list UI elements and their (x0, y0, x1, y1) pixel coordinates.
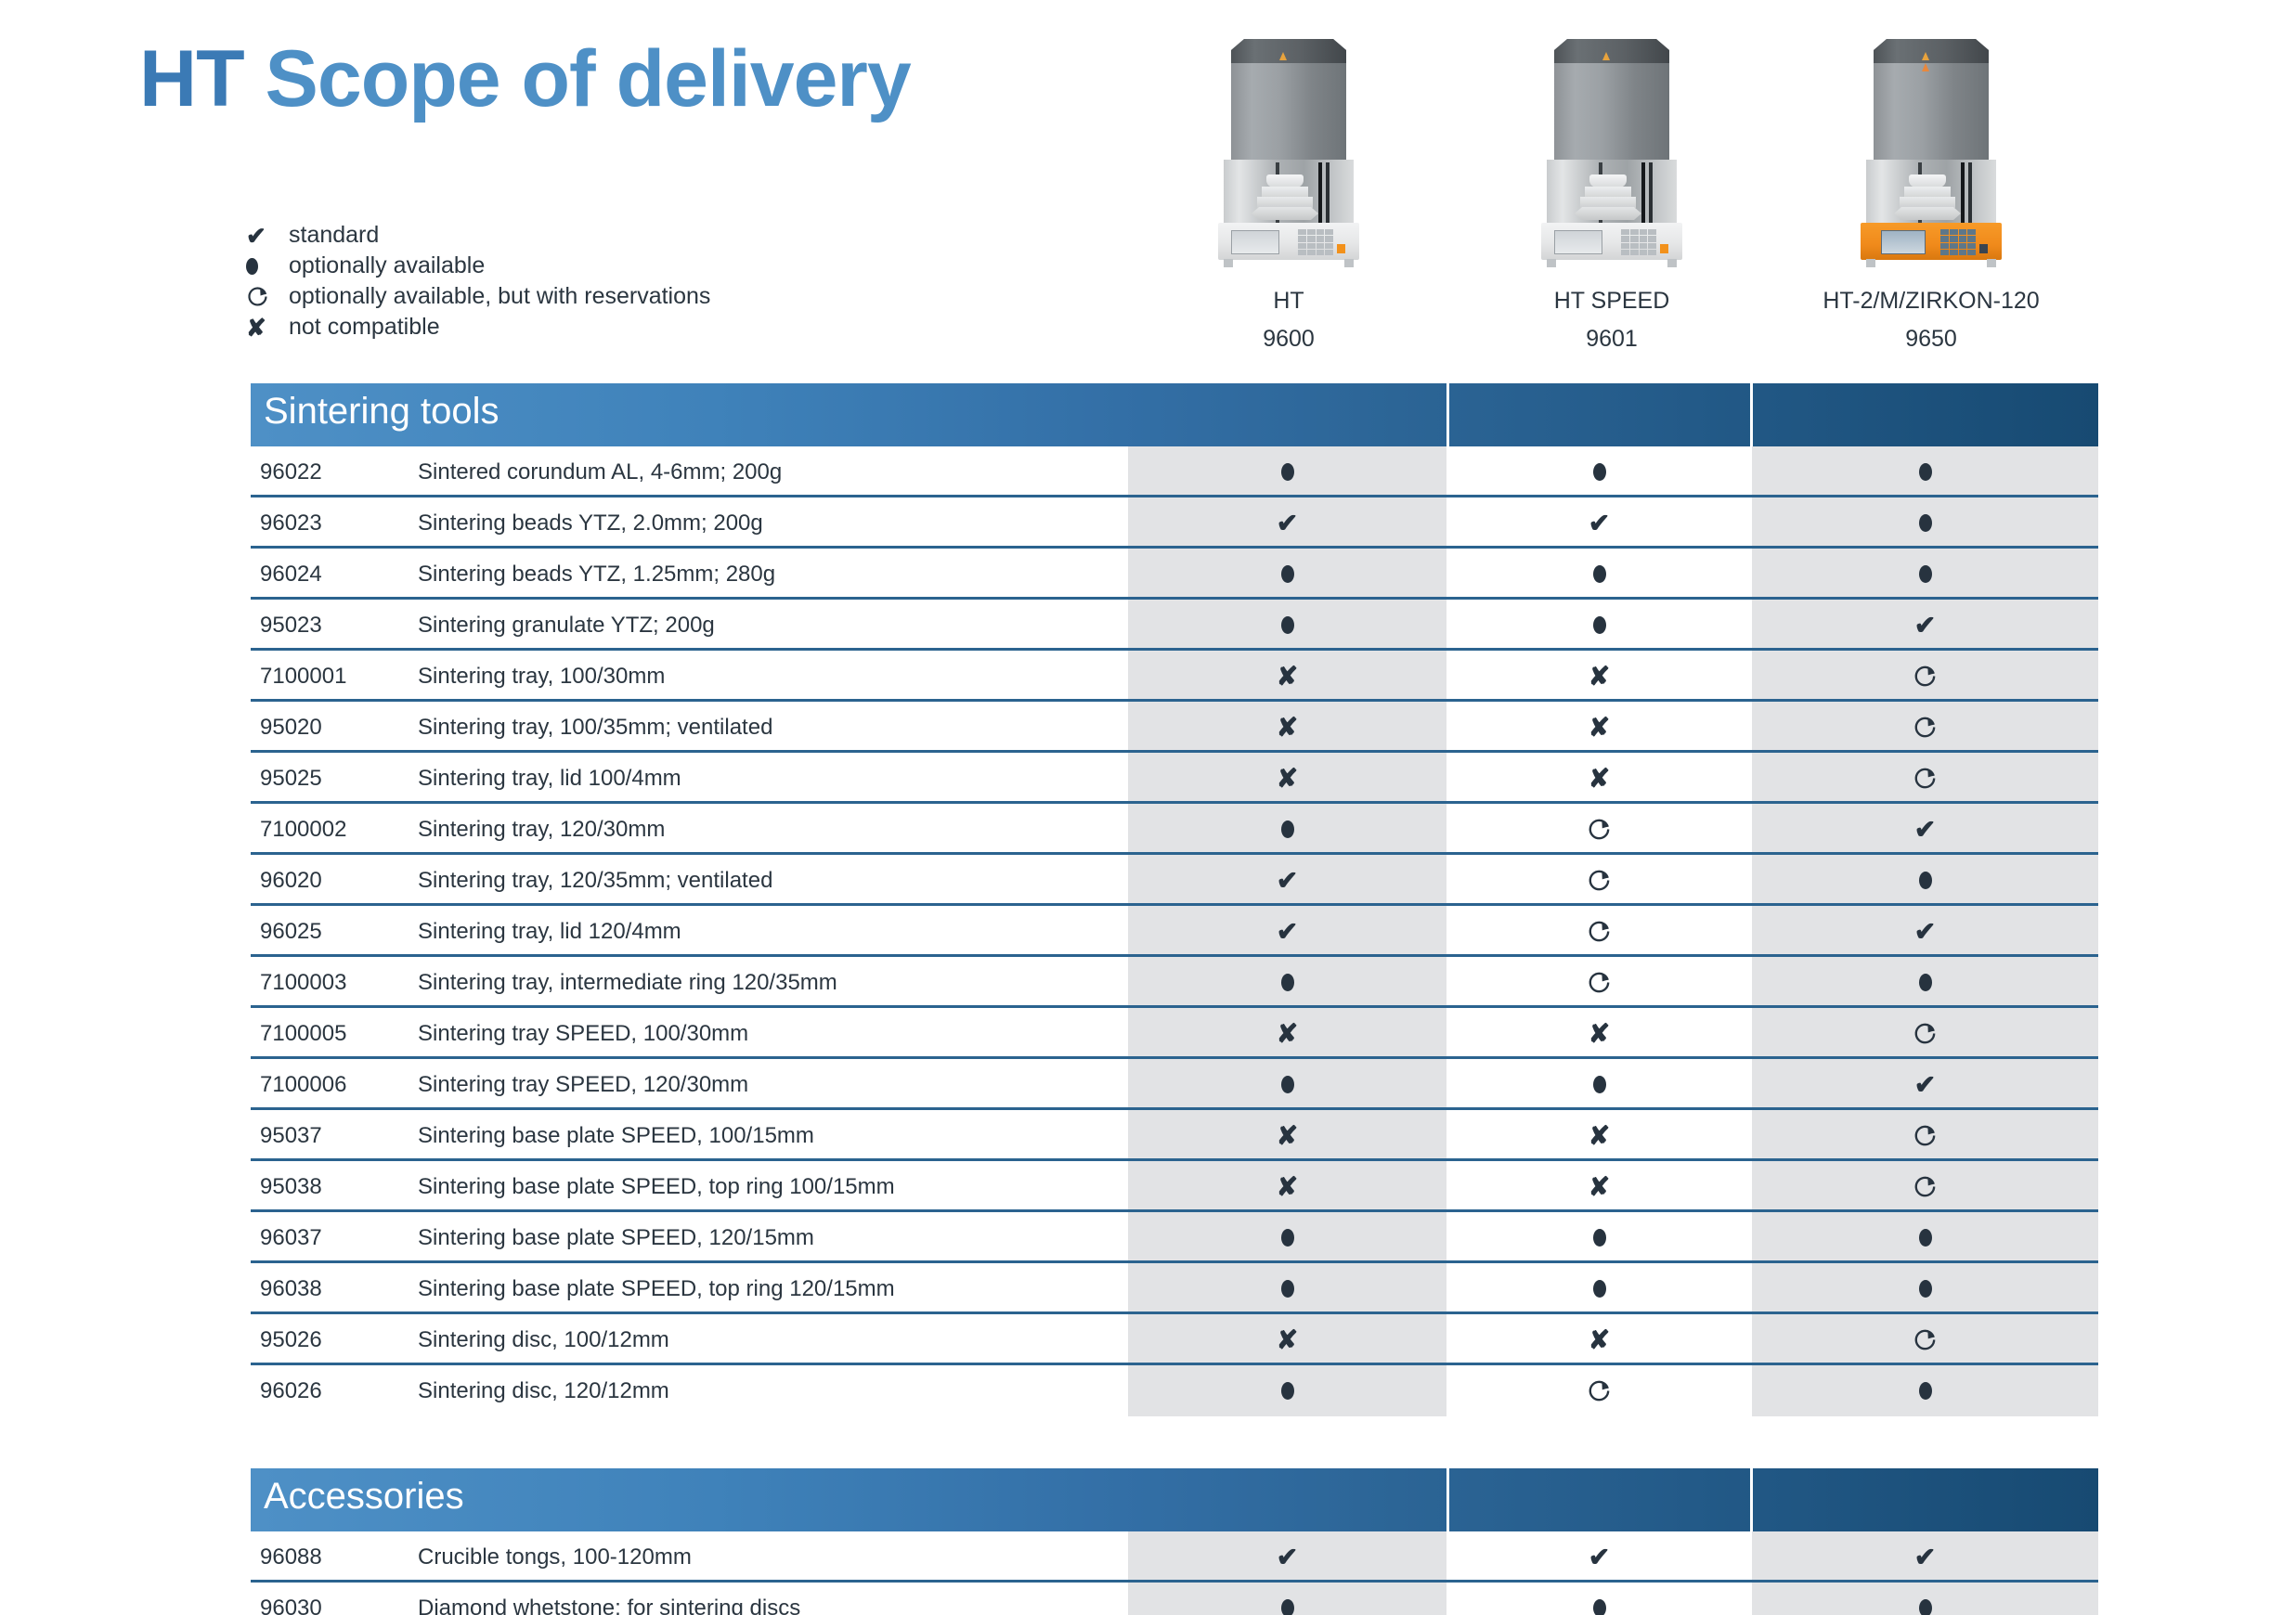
table-row: 7100001Sintering tray, 100/30mm✘✘ (251, 651, 2098, 702)
furnace-chamber-cap (1554, 39, 1669, 63)
control-display (1881, 230, 1926, 254)
circular-arrow-icon (1913, 1327, 1938, 1352)
availability-cell: ✘ (1128, 651, 1446, 702)
circular-arrow-glyph (1587, 868, 1612, 893)
product-code: 9600 (1135, 326, 1442, 353)
delivery-table: Sintering tools96022Sintered corundum AL… (251, 383, 2098, 1615)
filled-circle-icon (1593, 459, 1606, 485)
table-row: 96026Sintering disc, 120/12mm (251, 1365, 2098, 1416)
filled-circle-shape (246, 258, 258, 275)
filled-circle-shape (1593, 463, 1606, 481)
availability-cell (1448, 957, 1750, 1008)
row-description: Sintering granulate YTZ; 200g (418, 600, 715, 651)
filled-circle-icon (1919, 459, 1932, 485)
filled-circle-shape (1919, 463, 1932, 481)
filled-circle-icon (1281, 817, 1294, 843)
filled-circle-icon (1919, 510, 1932, 536)
crucible-tier (1257, 197, 1313, 208)
filled-circle-shape (1919, 872, 1932, 889)
row-description: Sintering tray SPEED, 100/30mm (418, 1008, 748, 1059)
availability-cell: ✔ (1128, 1531, 1446, 1583)
page-title: HT Scope of delivery (139, 39, 911, 119)
crucible-stack (1252, 174, 1318, 225)
product-code: 9650 (1778, 326, 2084, 353)
row-article-number: 96023 (260, 497, 322, 549)
furnace-rod (1326, 162, 1330, 224)
filled-circle-shape (1919, 974, 1932, 991)
filled-circle-shape (1593, 565, 1606, 583)
check-icon: ✔ (1277, 510, 1298, 536)
delivery-scope-page: HT Scope of delivery ✔standardoptionally… (0, 0, 2296, 1615)
furnace-chamber-cap (1874, 39, 1989, 63)
row-description: Sintering base plate SPEED, top ring 120… (418, 1263, 895, 1314)
control-display (1554, 230, 1602, 254)
furnace-ht-photo (1218, 19, 1359, 269)
furnace-foot (1987, 259, 1996, 267)
circular-arrow-glyph (1587, 1378, 1612, 1403)
circular-arrow-glyph (1587, 970, 1612, 995)
circular-arrow-icon (1913, 1174, 1938, 1199)
availability-cell (1448, 1212, 1750, 1263)
table-row: 96022Sintered corundum AL, 4-6mm; 200g (251, 446, 2098, 497)
table-row: 95020Sintering tray, 100/35mm; ventilate… (251, 702, 2098, 753)
row-description: Sintering base plate SPEED, 120/15mm (418, 1212, 814, 1263)
filled-circle-icon (1919, 868, 1932, 894)
power-button[interactable] (1337, 244, 1345, 253)
filled-circle-icon (1281, 1225, 1294, 1251)
circular-arrow-icon (1913, 715, 1938, 740)
circular-arrow-glyph (1587, 817, 1612, 842)
filled-circle-icon (1593, 1276, 1606, 1302)
circular-arrow-icon (1913, 1021, 1938, 1046)
check-icon: ✔ (1914, 919, 1936, 945)
table-row: 96023Sintering beads YTZ, 2.0mm; 200g✔✔ (251, 497, 2098, 549)
filled-circle-shape (1281, 565, 1294, 583)
availability-cell (1128, 804, 1446, 855)
cross-icon: ✘ (1277, 1327, 1298, 1353)
availability-cell: ✔ (1128, 855, 1446, 906)
filled-circle-shape (1919, 514, 1932, 532)
row-article-number: 95025 (260, 753, 322, 804)
legend-symbol (246, 285, 289, 308)
product-column: HT9600 (1135, 19, 1442, 381)
legend-row: optionally available, but with reservati… (246, 281, 970, 312)
furnace-foot (1667, 259, 1677, 267)
check-icon: ✔ (1914, 817, 1936, 843)
availability-cell (1128, 600, 1446, 651)
filled-circle-shape (1281, 616, 1294, 634)
availability-cell (1752, 957, 2098, 1008)
filled-circle-icon (1919, 1596, 1932, 1615)
availability-cell (1752, 702, 2098, 753)
legend-row: ✔standard (246, 220, 970, 251)
table-row: 95023Sintering granulate YTZ; 200g✔ (251, 600, 2098, 651)
crucible-tier (1266, 174, 1304, 187)
check-icon: ✔ (1589, 1544, 1610, 1570)
row-description: Sintering tray, 100/30mm (418, 651, 665, 702)
circular-arrow-icon (1913, 1123, 1938, 1148)
table-row: 95026Sintering disc, 100/12mm✘✘ (251, 1314, 2098, 1365)
filled-circle-shape (1593, 1229, 1606, 1247)
filled-circle-icon (1593, 1072, 1606, 1098)
availability-cell (1128, 1059, 1446, 1110)
availability-cell: ✔ (1752, 906, 2098, 957)
availability-cell (1448, 1059, 1750, 1110)
section-title: Accessories (264, 1476, 464, 1518)
filled-circle-shape (1919, 1229, 1932, 1247)
filled-circle-icon (246, 254, 258, 278)
availability-cell (1128, 549, 1446, 600)
furnace-foot (1344, 259, 1354, 267)
availability-cell: ✘ (1448, 1314, 1750, 1365)
circular-arrow-icon (1587, 970, 1612, 995)
product-name: HT SPEED (1459, 288, 1765, 315)
filled-circle-shape (1919, 565, 1932, 583)
furnace-foot (1547, 259, 1556, 267)
table-row: 96038Sintering base plate SPEED, top rin… (251, 1263, 2098, 1314)
filled-circle-icon (1593, 1596, 1606, 1615)
availability-cell: ✘ (1128, 1314, 1446, 1365)
check-icon: ✔ (1277, 868, 1298, 894)
availability-cell (1448, 1263, 1750, 1314)
power-button[interactable] (1660, 244, 1668, 253)
crucible-tier (1909, 174, 1946, 187)
crucible-base (1575, 207, 1641, 220)
availability-cell (1448, 549, 1750, 600)
section-header: Sintering tools (251, 383, 2098, 446)
availability-cell (1752, 1314, 2098, 1365)
row-article-number: 96038 (260, 1263, 322, 1314)
filled-circle-icon (1281, 970, 1294, 996)
circular-arrow-glyph (246, 285, 269, 308)
availability-cell: ✔ (1752, 1059, 2098, 1110)
row-article-number: 7100006 (260, 1059, 346, 1110)
availability-cell (1128, 446, 1446, 497)
circular-arrow-icon (1587, 868, 1612, 893)
filled-circle-shape (1593, 1076, 1606, 1093)
filled-circle-shape (1593, 1280, 1606, 1298)
filled-circle-icon (1281, 1596, 1294, 1615)
circular-arrow-glyph (1913, 1021, 1938, 1046)
filled-circle-shape (1281, 1280, 1294, 1298)
row-description: Sintering beads YTZ, 1.25mm; 280g (418, 549, 775, 600)
circular-arrow-glyph (1587, 919, 1612, 944)
row-description: Sintering tray, 100/35mm; ventilated (418, 702, 772, 753)
cross-icon: ✘ (246, 316, 266, 340)
check-icon: ✔ (246, 224, 266, 248)
cross-icon: ✘ (1277, 1123, 1298, 1149)
availability-cell (1752, 1110, 2098, 1161)
availability-cell: ✘ (1448, 702, 1750, 753)
availability-cell: ✘ (1128, 753, 1446, 804)
cross-icon: ✘ (1277, 766, 1298, 792)
availability-cell: ✘ (1448, 1008, 1750, 1059)
availability-cell (1128, 1583, 1446, 1615)
row-description: Sintering disc, 100/12mm (418, 1314, 669, 1365)
circular-arrow-icon (1587, 817, 1612, 842)
table-row: 96088Crucible tongs, 100-120mm✔✔✔ (251, 1531, 2098, 1583)
table-row: 95037Sintering base plate SPEED, 100/15m… (251, 1110, 2098, 1161)
row-article-number: 7100003 (260, 957, 346, 1008)
circular-arrow-glyph (1913, 664, 1938, 689)
row-article-number: 96025 (260, 906, 322, 957)
filled-circle-icon (1919, 970, 1932, 996)
column-gap (1446, 383, 1449, 446)
filled-circle-shape (1919, 1599, 1932, 1615)
product-code: 9601 (1459, 326, 1765, 353)
furnace-ht-2-m-zirkon-120-photo (1861, 19, 2002, 269)
row-description: Sintering base plate SPEED, 100/15mm (418, 1110, 814, 1161)
page-title-light: Scope of delivery (266, 34, 911, 123)
check-icon: ✔ (1277, 919, 1298, 945)
row-article-number: 95038 (260, 1161, 322, 1212)
legend-row: optionally available (246, 251, 970, 281)
cross-icon: ✘ (1589, 664, 1610, 690)
table-row: 96030Diamond whetstone; for sintering di… (251, 1583, 2098, 1615)
row-article-number: 95037 (260, 1110, 322, 1161)
page-title-bold: HT (139, 34, 244, 123)
row-article-number: 96022 (260, 446, 322, 497)
filled-circle-icon (1281, 613, 1294, 639)
cross-icon: ✘ (1277, 1021, 1298, 1047)
column-gap (1446, 1468, 1449, 1531)
availability-cell (1752, 753, 2098, 804)
availability-cell (1752, 1583, 2098, 1615)
cross-icon: ✘ (1589, 1123, 1610, 1149)
availability-cell (1752, 1263, 2098, 1314)
section-title: Sintering tools (264, 391, 499, 433)
availability-cell (1752, 855, 2098, 906)
cross-icon: ✘ (1589, 766, 1610, 792)
row-article-number: 96037 (260, 1212, 322, 1263)
availability-cell: ✘ (1448, 651, 1750, 702)
row-article-number: 7100002 (260, 804, 346, 855)
availability-cell: ✘ (1128, 1161, 1446, 1212)
crucible-stack (1894, 174, 1961, 225)
availability-cell (1752, 1212, 2098, 1263)
legend-row: ✘not compatible (246, 312, 970, 342)
legend-label: standard (289, 222, 379, 249)
furnace-foot (1224, 259, 1233, 267)
furnace-ht-speed-photo (1541, 19, 1682, 269)
furnace-rod (1649, 162, 1653, 224)
availability-cell: ✘ (1128, 1110, 1446, 1161)
furnace-rod (1641, 162, 1645, 224)
check-icon: ✔ (1914, 613, 1936, 639)
filled-circle-shape (1919, 1280, 1932, 1298)
row-description: Sintering tray, intermediate ring 120/35… (418, 957, 837, 1008)
table-row: 95038Sintering base plate SPEED, top rin… (251, 1161, 2098, 1212)
power-button[interactable] (1979, 244, 1988, 253)
availability-cell: ✘ (1448, 753, 1750, 804)
row-article-number: 96024 (260, 549, 322, 600)
filled-circle-shape (1281, 1229, 1294, 1247)
filled-circle-shape (1593, 1599, 1606, 1615)
check-icon: ✔ (1277, 1544, 1298, 1570)
filled-circle-icon (1281, 562, 1294, 588)
row-description: Sintered corundum AL, 4-6mm; 200g (418, 446, 782, 497)
availability-cell (1448, 1583, 1750, 1615)
filled-circle-icon (1919, 1378, 1932, 1404)
filled-circle-shape (1593, 616, 1606, 634)
table-section: Accessories96088Crucible tongs, 100-120m… (251, 1468, 2098, 1615)
product-name: HT (1135, 288, 1442, 315)
filled-circle-icon (1281, 1072, 1294, 1098)
check-icon: ✔ (1914, 1072, 1936, 1098)
row-description: Sintering tray, lid 120/4mm (418, 906, 681, 957)
availability-cell (1752, 651, 2098, 702)
check-icon: ✔ (1914, 1544, 1936, 1570)
availability-cell (1752, 549, 2098, 600)
row-description: Diamond whetstone; for sintering discs (418, 1583, 800, 1615)
availability-cell: ✘ (1448, 1161, 1750, 1212)
row-article-number: 95020 (260, 702, 322, 753)
furnace-chamber-cap (1231, 39, 1346, 63)
table-row: 7100005Sintering tray SPEED, 100/30mm✘✘ (251, 1008, 2098, 1059)
table-row: 96025Sintering tray, lid 120/4mm✔✔ (251, 906, 2098, 957)
table-section: Sintering tools96022Sintered corundum AL… (251, 383, 2098, 1416)
row-description: Sintering base plate SPEED, top ring 100… (418, 1161, 895, 1212)
row-description: Sintering disc, 120/12mm (418, 1365, 669, 1416)
row-article-number: 7100005 (260, 1008, 346, 1059)
cross-icon: ✘ (1589, 1327, 1610, 1353)
filled-circle-icon (1593, 1225, 1606, 1251)
circular-arrow-icon (1587, 1378, 1612, 1403)
circular-arrow-glyph (1913, 1123, 1938, 1148)
crucible-base (1894, 207, 1961, 220)
row-description: Sintering tray SPEED, 120/30mm (418, 1059, 748, 1110)
table-row: 7100002Sintering tray, 120/30mm✔ (251, 804, 2098, 855)
availability-cell: ✔ (1448, 1531, 1750, 1583)
furnace-rod (1318, 162, 1322, 224)
circular-arrow-glyph (1913, 715, 1938, 740)
furnace-foot (1866, 259, 1875, 267)
availability-cell (1128, 1365, 1446, 1416)
cross-icon: ✘ (1589, 1021, 1610, 1047)
legend-label: optionally available (289, 252, 485, 279)
circular-arrow-icon (1913, 766, 1938, 791)
row-article-number: 96088 (260, 1531, 322, 1583)
filled-circle-shape (1281, 1599, 1294, 1615)
availability-cell (1752, 497, 2098, 549)
crucible-tier (1580, 197, 1636, 208)
circular-arrow-glyph (1913, 766, 1938, 791)
availability-cell (1448, 804, 1750, 855)
table-row: 96024Sintering beads YTZ, 1.25mm; 280g (251, 549, 2098, 600)
control-display (1231, 230, 1279, 254)
table-row: 7100006Sintering tray SPEED, 120/30mm✔ (251, 1059, 2098, 1110)
cross-icon: ✘ (1277, 1174, 1298, 1200)
filled-circle-icon (1593, 613, 1606, 639)
section-header: Accessories (251, 1468, 2098, 1531)
filled-circle-shape (1281, 463, 1294, 481)
availability-cell (1448, 906, 1750, 957)
control-keypad (1940, 229, 1976, 255)
circular-arrow-icon (1587, 919, 1612, 944)
circular-arrow-glyph (1913, 1174, 1938, 1199)
legend-label: not compatible (289, 314, 440, 341)
availability-cell: ✘ (1448, 1110, 1750, 1161)
filled-circle-icon (1919, 562, 1932, 588)
crucible-tier (1589, 174, 1627, 187)
legend-symbol: ✔ (246, 224, 289, 248)
product-column: HT-2/M/ZIRKON-1209650 (1778, 19, 2084, 381)
filled-circle-icon (1281, 459, 1294, 485)
filled-circle-shape (1919, 1382, 1932, 1400)
filled-circle-icon (1281, 1378, 1294, 1404)
cross-icon: ✘ (1589, 715, 1610, 741)
row-description: Sintering beads YTZ, 2.0mm; 200g (418, 497, 763, 549)
filled-circle-shape (1281, 1076, 1294, 1093)
cross-icon: ✘ (1589, 1174, 1610, 1200)
availability-cell: ✔ (1448, 497, 1750, 549)
product-header: HT9600HT SPEED9601HT-2/M/ZIRKON-1209650 (1128, 19, 2098, 381)
filled-circle-shape (1281, 974, 1294, 991)
product-column: HT SPEED9601 (1459, 19, 1765, 381)
row-article-number: 7100001 (260, 651, 346, 702)
cross-icon: ✘ (1277, 664, 1298, 690)
check-icon: ✔ (1589, 510, 1610, 536)
legend-symbol (246, 254, 289, 278)
circular-arrow-icon (1913, 664, 1938, 689)
availability-cell (1448, 446, 1750, 497)
column-gap (1750, 1468, 1753, 1531)
availability-cell: ✔ (1128, 906, 1446, 957)
row-article-number: 96030 (260, 1583, 322, 1615)
circular-arrow-glyph (1913, 1327, 1938, 1352)
row-article-number: 95023 (260, 600, 322, 651)
filled-circle-icon (1281, 1276, 1294, 1302)
availability-cell (1128, 1212, 1446, 1263)
row-description: Sintering tray, 120/30mm (418, 804, 665, 855)
availability-cell (1752, 1161, 2098, 1212)
availability-cell (1752, 1365, 2098, 1416)
cross-icon: ✘ (1277, 715, 1298, 741)
filled-circle-icon (1919, 1225, 1932, 1251)
furnace-rod (1968, 162, 1972, 224)
circular-arrow-icon (246, 285, 269, 308)
availability-cell (1448, 1365, 1750, 1416)
crucible-base (1252, 207, 1318, 220)
table-row: 7100003Sintering tray, intermediate ring… (251, 957, 2098, 1008)
availability-cell (1752, 1008, 2098, 1059)
availability-cell: ✘ (1128, 1008, 1446, 1059)
column-gap (1750, 383, 1753, 446)
row-description: Sintering tray, 120/35mm; ventilated (418, 855, 772, 906)
availability-cell: ✔ (1752, 804, 2098, 855)
legend-symbol: ✘ (246, 316, 289, 340)
table-row: 96037Sintering base plate SPEED, 120/15m… (251, 1212, 2098, 1263)
availability-cell: ✔ (1128, 497, 1446, 549)
legend-label: optionally available, but with reservati… (289, 283, 710, 310)
row-description: Sintering tray, lid 100/4mm (418, 753, 681, 804)
row-description: Crucible tongs, 100-120mm (418, 1531, 692, 1583)
legend: ✔standardoptionally availableoptionally … (246, 220, 970, 342)
availability-cell (1128, 957, 1446, 1008)
filled-circle-icon (1593, 562, 1606, 588)
row-article-number: 96026 (260, 1365, 322, 1416)
availability-cell (1752, 446, 2098, 497)
row-article-number: 95026 (260, 1314, 322, 1365)
crucible-stack (1575, 174, 1641, 225)
table-row: 95025Sintering tray, lid 100/4mm✘✘ (251, 753, 2098, 804)
crucible-tier (1900, 197, 1955, 208)
filled-circle-shape (1281, 1382, 1294, 1400)
availability-cell (1128, 1263, 1446, 1314)
furnace-rod (1961, 162, 1965, 224)
table-row: 96020Sintering tray, 120/35mm; ventilate… (251, 855, 2098, 906)
availability-cell (1448, 600, 1750, 651)
